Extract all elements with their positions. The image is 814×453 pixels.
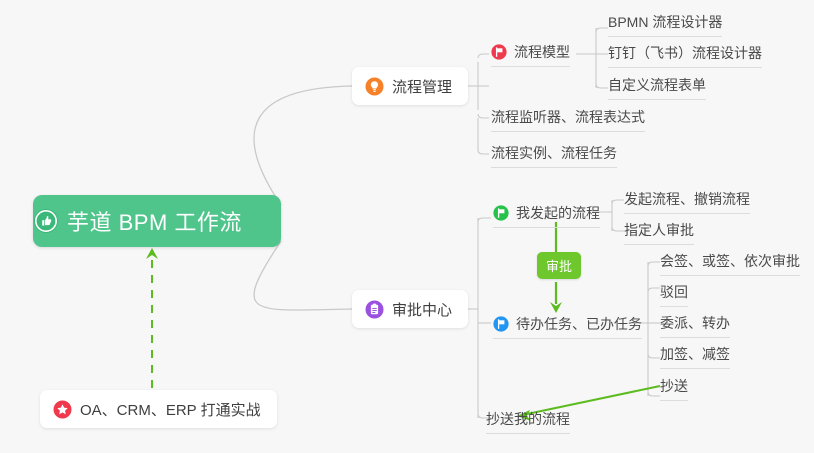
sub-label-my-initiated: 我发起的流程 [516, 203, 600, 223]
leaf-process-listener[interactable]: 流程监听器、流程表达式 [491, 107, 645, 132]
leaf-countersign-types[interactable]: 会签、或签、依次审批 [660, 251, 800, 276]
leaf-delegate-transfer[interactable]: 委派、转办 [660, 313, 730, 338]
branch-label-process-management: 流程管理 [392, 76, 452, 97]
sub-node-todo-done-tasks[interactable]: 待办任务、已办任务 [493, 314, 642, 339]
star-icon [53, 400, 72, 419]
leaf-process-instance[interactable]: 流程实例、流程任务 [491, 143, 617, 168]
branch-node-process-management[interactable]: 流程管理 [352, 67, 468, 105]
callout-arrow [146, 248, 158, 388]
leaf-cc[interactable]: 抄送 [660, 376, 688, 401]
root-label: 芋道 BPM 工作流 [67, 205, 242, 237]
flag-icon [493, 316, 509, 332]
sub-node-process-model[interactable]: 流程模型 [491, 42, 570, 67]
approval-badge: 审批 [537, 252, 581, 279]
sub-label-todo-done-tasks: 待办任务、已办任务 [516, 314, 642, 334]
leaf-designated-approver[interactable]: 指定人审批 [624, 220, 694, 245]
leaf-reject[interactable]: 驳回 [660, 282, 688, 307]
leaf-start-cancel-process[interactable]: 发起流程、撤销流程 [624, 189, 750, 214]
leaf-dingtalk-feishu-designer[interactable]: 钉钉（飞书）流程设计器 [608, 43, 762, 68]
callout-node-integration[interactable]: OA、CRM、ERP 打通实战 [40, 390, 277, 428]
root-node[interactable]: 芋道 BPM 工作流 [33, 195, 281, 247]
lightbulb-icon [365, 77, 384, 96]
leaf-add-remove-sign[interactable]: 加签、减签 [660, 344, 730, 369]
branch-node-approval-center[interactable]: 审批中心 [352, 290, 468, 328]
leaf-custom-form[interactable]: 自定义流程表单 [608, 75, 706, 100]
flag-icon [493, 205, 509, 221]
branch-label-approval-center: 审批中心 [392, 299, 452, 320]
thumbs-up-icon [33, 208, 59, 234]
sub-node-my-initiated[interactable]: 我发起的流程 [493, 203, 600, 228]
leaf-cc-to-me[interactable]: 抄送我的流程 [486, 409, 570, 434]
sub-label-process-model: 流程模型 [514, 42, 570, 62]
callout-label: OA、CRM、ERP 打通实战 [80, 399, 261, 420]
mindmap-canvas: 芋道 BPM 工作流 流程管理 审批中心 [0, 0, 814, 453]
leaf-bpmn-designer[interactable]: BPMN 流程设计器 [608, 12, 722, 37]
flag-icon [491, 44, 507, 60]
clipboard-icon [365, 300, 384, 319]
